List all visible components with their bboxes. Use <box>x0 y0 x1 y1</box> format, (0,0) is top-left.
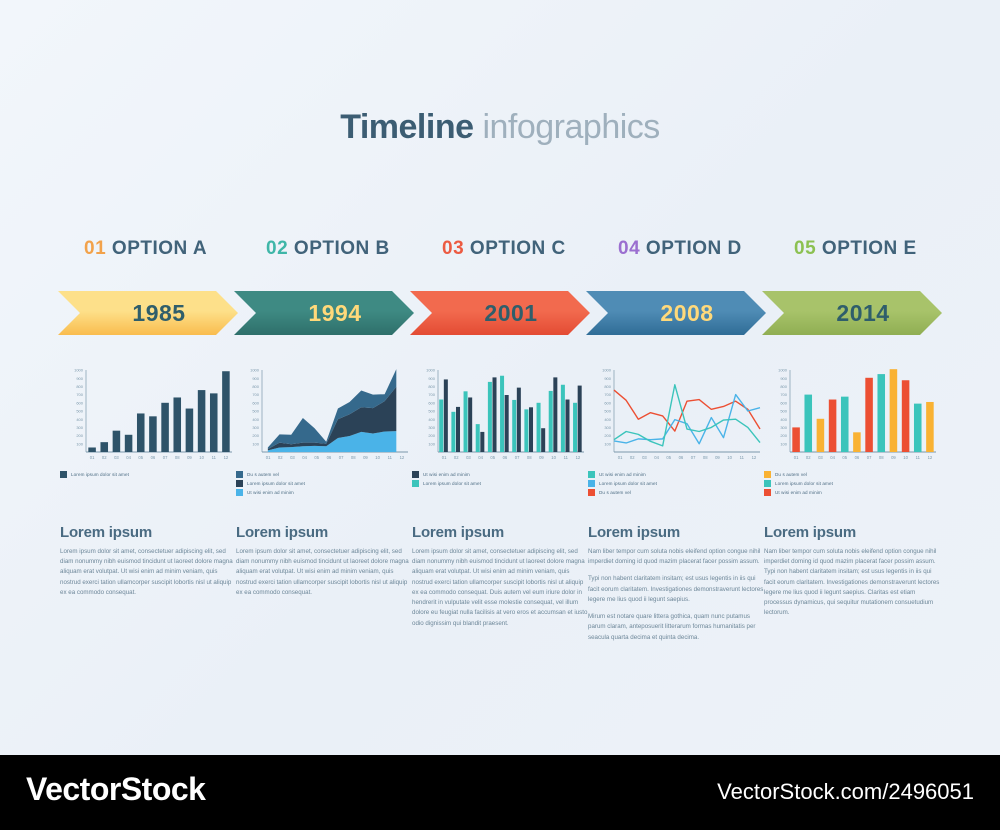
bar <box>456 407 460 452</box>
legend-item[interactable]: Lorem ipsum dolor sit amet <box>236 480 412 487</box>
x-tick-label: 08 <box>175 455 180 460</box>
title-sub: infographics <box>482 108 659 146</box>
y-tick-label: 300 <box>780 425 787 430</box>
option-number: 04 <box>618 238 640 259</box>
x-tick-label: 05 <box>666 455 671 460</box>
option-label: OPTION B <box>288 238 390 259</box>
x-tick-label: 03 <box>290 455 295 460</box>
x-tick-label: 06 <box>855 455 860 460</box>
option-number: 05 <box>794 238 816 259</box>
x-tick-label: 09 <box>187 455 192 460</box>
option-label: OPTION D <box>640 238 742 259</box>
text-column-2: Lorem ipsumLorem ipsum dolor sit amet, c… <box>236 524 412 605</box>
bar <box>792 427 800 452</box>
y-tick-label: 1000 <box>250 368 260 373</box>
bar <box>524 409 528 452</box>
legend-label: Ut wisi enim ad minim <box>423 472 470 477</box>
y-tick-label: 400 <box>780 417 787 422</box>
legend-swatch-icon <box>236 480 243 487</box>
legend-swatch-icon <box>764 489 771 496</box>
bar <box>88 447 96 452</box>
legend-swatch-icon <box>588 480 595 487</box>
option-header-option-d[interactable]: 04 OPTION D <box>618 238 742 260</box>
option-header-option-e[interactable]: 05 OPTION E <box>794 238 917 260</box>
column-heading: Lorem ipsum <box>764 524 940 541</box>
option-header-option-a[interactable]: 01 OPTION A <box>84 238 207 260</box>
legend-item[interactable]: Lorem ipsum dolor sit amet <box>588 480 764 487</box>
chart-legend: Lorem ipsum dolor sit amet <box>60 471 236 478</box>
legend-swatch-icon <box>412 471 419 478</box>
option-number: 02 <box>266 238 288 259</box>
x-tick-label: 07 <box>691 455 696 460</box>
x-tick-label: 11 <box>212 455 217 460</box>
x-tick-label: 10 <box>727 455 732 460</box>
column-heading: Lorem ipsum <box>412 524 588 541</box>
bar <box>125 435 133 452</box>
legend-item[interactable]: Ut wisi enim ad minim <box>236 489 412 496</box>
x-tick-label: 03 <box>114 455 119 460</box>
legend-item[interactable]: Lorem ipsum dolor sit amet <box>764 480 940 487</box>
brand-label: VectorStock <box>26 771 205 808</box>
legend-item[interactable]: Lorem ipsum dolor sit amet <box>60 471 236 478</box>
x-tick-label: 07 <box>515 455 520 460</box>
x-tick-label: 05 <box>490 455 495 460</box>
chart-plot: 1000900800700600500400300200100010203040… <box>764 366 940 466</box>
option-number: 03 <box>442 238 464 259</box>
x-tick-label: 05 <box>314 455 319 460</box>
x-tick-label: 12 <box>928 455 933 460</box>
bar <box>439 400 443 452</box>
y-tick-label: 700 <box>76 392 83 397</box>
bar <box>464 391 468 452</box>
chart-legend: Ut wisi enim ad minimLorem ipsum dolor s… <box>588 471 764 496</box>
chart-plot: 1000900800700600500400300200100010203040… <box>588 366 764 466</box>
x-tick-label: 11 <box>916 455 921 460</box>
bar <box>198 390 206 452</box>
y-tick-label: 1000 <box>602 368 612 373</box>
column-paragraph: Typi non habent claritatem insitam; est … <box>588 574 764 605</box>
y-tick-label: 900 <box>252 376 259 381</box>
y-tick-label: 800 <box>428 384 435 389</box>
y-tick-label: 100 <box>252 441 259 446</box>
y-tick-label: 300 <box>604 425 611 430</box>
y-tick-label: 100 <box>76 441 83 446</box>
bar <box>222 371 230 452</box>
x-tick-label: 01 <box>794 455 799 460</box>
chart-legend: Ut wisi enim ad minimLorem ipsum dolor s… <box>412 471 588 487</box>
bar <box>444 379 448 452</box>
legend-swatch-icon <box>412 480 419 487</box>
bar <box>186 409 194 452</box>
option-number: 01 <box>84 238 106 259</box>
timeline-banner-2001[interactable]: 2001 <box>410 291 590 335</box>
legend-swatch-icon <box>588 489 595 496</box>
chart-1-bar: 1000900800700600500400300200100010203040… <box>60 366 236 480</box>
option-header-option-b[interactable]: 02 OPTION B <box>266 238 390 260</box>
y-tick-label: 200 <box>780 433 787 438</box>
column-paragraph: Lorem ipsum dolor sit amet, consectetuer… <box>236 547 412 598</box>
bar <box>512 400 516 452</box>
legend-item[interactable]: Du s autem vel <box>588 489 764 496</box>
bar <box>537 403 541 452</box>
option-header-option-c[interactable]: 03 OPTION C <box>442 238 566 260</box>
option-label: OPTION C <box>464 238 566 259</box>
bar <box>451 412 455 452</box>
x-tick-label: 04 <box>654 455 659 460</box>
y-tick-label: 500 <box>604 409 611 414</box>
y-tick-label: 400 <box>604 417 611 422</box>
x-tick-label: 12 <box>752 455 757 460</box>
x-tick-label: 10 <box>199 455 204 460</box>
bar <box>480 432 484 452</box>
bar <box>853 432 861 452</box>
x-tick-label: 12 <box>576 455 581 460</box>
legend-item[interactable]: Du s autem vel <box>764 471 940 478</box>
bar <box>161 403 169 452</box>
legend-item[interactable]: Ut wisi enim ad minim <box>588 471 764 478</box>
chart-legend: Du s autem velLorem ipsum dolor sit amet… <box>764 471 940 496</box>
chart-legend: Du s autem velLorem ipsum dolor sit amet… <box>236 471 412 496</box>
title-main: Timeline <box>340 108 473 146</box>
legend-item[interactable]: Lorem ipsum dolor sit amet <box>412 480 588 487</box>
bar <box>100 442 108 452</box>
x-tick-label: 06 <box>679 455 684 460</box>
brand-url: VectorStock.com/2496051 <box>717 779 974 805</box>
y-tick-label: 400 <box>76 417 83 422</box>
y-tick-label: 100 <box>780 441 787 446</box>
chart-plot: 1000900800700600500400300200100010203040… <box>60 366 236 466</box>
y-tick-label: 200 <box>76 433 83 438</box>
legend-label: Lorem ipsum dolor sit amet <box>423 481 481 486</box>
legend-label: Du s autem vel <box>599 490 631 495</box>
y-tick-label: 300 <box>252 425 259 430</box>
x-tick-label: 03 <box>466 455 471 460</box>
x-tick-label: 11 <box>564 455 569 460</box>
x-tick-label: 06 <box>327 455 332 460</box>
legend-swatch-icon <box>236 489 243 496</box>
chart-4-line: 1000900800700600500400300200100010203040… <box>588 366 764 498</box>
x-tick-label: 04 <box>830 455 835 460</box>
x-tick-label: 02 <box>630 455 635 460</box>
bar <box>553 377 557 452</box>
bar <box>468 397 472 452</box>
timeline-banner-1985[interactable]: 1985 <box>58 291 238 335</box>
column-heading: Lorem ipsum <box>236 524 412 541</box>
bar <box>865 378 873 452</box>
x-tick-label: 09 <box>891 455 896 460</box>
legend-swatch-icon <box>764 471 771 478</box>
x-tick-label: 11 <box>740 455 745 460</box>
bar <box>890 369 898 452</box>
x-tick-label: 08 <box>351 455 356 460</box>
bar <box>149 416 157 452</box>
chart-plot: 1000900800700600500400300200100010203040… <box>236 366 412 466</box>
x-tick-label: 12 <box>224 455 229 460</box>
y-tick-label: 300 <box>428 425 435 430</box>
y-tick-label: 800 <box>780 384 787 389</box>
legend-label: Lorem ipsum dolor sit amet <box>599 481 657 486</box>
y-tick-label: 400 <box>428 417 435 422</box>
bar <box>505 395 509 452</box>
x-tick-label: 07 <box>163 455 168 460</box>
banner-year: 1985 <box>110 300 185 327</box>
legend-swatch-icon <box>588 471 595 478</box>
y-tick-label: 600 <box>604 400 611 405</box>
x-tick-label: 09 <box>539 455 544 460</box>
x-tick-label: 12 <box>400 455 405 460</box>
x-tick-label: 09 <box>363 455 368 460</box>
x-tick-label: 06 <box>151 455 156 460</box>
timeline-banner-2008[interactable]: 2008 <box>586 291 766 335</box>
banner-year: 2014 <box>814 300 889 327</box>
column-paragraph: Nam liber tempor cum soluta nobis eleife… <box>764 547 940 619</box>
y-tick-label: 300 <box>76 425 83 430</box>
x-tick-label: 05 <box>138 455 143 460</box>
option-label: OPTION A <box>106 238 207 259</box>
bar <box>914 404 922 452</box>
bar <box>541 428 545 452</box>
legend-item[interactable]: Du s autem vel <box>236 471 412 478</box>
bar <box>804 395 812 452</box>
y-tick-label: 1000 <box>778 368 788 373</box>
chart-5-bar: 1000900800700600500400300200100010203040… <box>764 366 940 498</box>
x-tick-label: 01 <box>442 455 447 460</box>
chart-2-area: 1000900800700600500400300200100010203040… <box>236 366 412 498</box>
chart-3-bar: 1000900800700600500400300200100010203040… <box>412 366 588 489</box>
y-tick-label: 500 <box>76 409 83 414</box>
y-tick-label: 500 <box>780 409 787 414</box>
y-tick-label: 900 <box>76 376 83 381</box>
bar <box>817 419 825 452</box>
bar <box>113 431 121 452</box>
x-tick-label: 02 <box>806 455 811 460</box>
y-tick-label: 100 <box>428 441 435 446</box>
bar <box>137 413 145 452</box>
y-tick-label: 900 <box>428 376 435 381</box>
x-tick-label: 01 <box>618 455 623 460</box>
legend-label: Du s autem vel <box>775 472 807 477</box>
y-tick-label: 500 <box>428 409 435 414</box>
x-tick-label: 07 <box>867 455 872 460</box>
x-tick-label: 03 <box>642 455 647 460</box>
bar <box>476 424 480 452</box>
x-tick-label: 08 <box>879 455 884 460</box>
legend-label: Lorem ipsum dolor sit amet <box>247 481 305 486</box>
x-tick-label: 02 <box>278 455 283 460</box>
y-tick-label: 900 <box>780 376 787 381</box>
x-tick-label: 08 <box>703 455 708 460</box>
page-title: Timeline infographics <box>0 108 1000 147</box>
x-tick-label: 11 <box>388 455 393 460</box>
x-tick-label: 02 <box>454 455 459 460</box>
bar <box>902 380 910 452</box>
y-tick-label: 600 <box>76 400 83 405</box>
y-tick-label: 1000 <box>426 368 436 373</box>
column-paragraph: Nam liber tempor cum soluta nobis eleife… <box>588 547 764 567</box>
y-tick-label: 900 <box>604 376 611 381</box>
bar <box>517 388 521 452</box>
bar <box>210 393 218 452</box>
x-tick-label: 07 <box>339 455 344 460</box>
bar <box>488 382 492 452</box>
bar <box>877 374 885 452</box>
text-column-4: Lorem ipsumNam liber tempor cum soluta n… <box>588 524 764 650</box>
bar <box>926 402 934 452</box>
column-heading: Lorem ipsum <box>588 524 764 541</box>
x-tick-label: 01 <box>266 455 271 460</box>
y-tick-label: 1000 <box>74 368 84 373</box>
y-tick-label: 400 <box>252 417 259 422</box>
y-tick-label: 200 <box>428 433 435 438</box>
legend-swatch-icon <box>60 471 67 478</box>
timeline-banner-2014[interactable]: 2014 <box>762 291 942 335</box>
text-column-1: Lorem ipsumLorem ipsum dolor sit amet, c… <box>60 524 236 605</box>
chart-plot: 1000900800700600500400300200100010203040… <box>412 366 588 466</box>
y-tick-label: 600 <box>780 400 787 405</box>
y-tick-label: 200 <box>252 433 259 438</box>
bar <box>529 407 533 452</box>
bar <box>841 397 849 452</box>
x-tick-label: 01 <box>90 455 95 460</box>
bar <box>500 376 504 452</box>
x-tick-label: 05 <box>842 455 847 460</box>
y-tick-label: 500 <box>252 409 259 414</box>
y-tick-label: 800 <box>76 384 83 389</box>
x-tick-label: 10 <box>551 455 556 460</box>
x-tick-label: 10 <box>375 455 380 460</box>
y-tick-label: 700 <box>604 392 611 397</box>
column-paragraph: Lorem ipsum dolor sit amet, consectetuer… <box>60 547 236 598</box>
bar <box>829 400 837 452</box>
bar <box>173 397 181 452</box>
bar <box>573 403 577 452</box>
text-column-5: Lorem ipsumNam liber tempor cum soluta n… <box>764 524 940 626</box>
bar <box>565 400 569 452</box>
banner-year: 2001 <box>462 300 537 327</box>
legend-item[interactable]: Ut wisi enim ad minim <box>412 471 588 478</box>
y-tick-label: 600 <box>428 400 435 405</box>
legend-label: Ut wisi enim ad minim <box>247 490 294 495</box>
y-tick-label: 200 <box>604 433 611 438</box>
y-tick-label: 600 <box>252 400 259 405</box>
x-tick-label: 10 <box>903 455 908 460</box>
legend-label: Lorem ipsum dolor sit amet <box>775 481 833 486</box>
bar <box>561 385 565 452</box>
text-column-3: Lorem ipsumLorem ipsum dolor sit amet, c… <box>412 524 588 636</box>
y-tick-label: 700 <box>780 392 787 397</box>
bar <box>549 391 553 452</box>
timeline-banner-1994[interactable]: 1994 <box>234 291 414 335</box>
legend-swatch-icon <box>236 471 243 478</box>
column-heading: Lorem ipsum <box>60 524 236 541</box>
y-tick-label: 800 <box>252 384 259 389</box>
x-tick-label: 03 <box>818 455 823 460</box>
legend-label: Ut wisi enim ad minim <box>599 472 646 477</box>
x-tick-label: 09 <box>715 455 720 460</box>
legend-label: Lorem ipsum dolor sit amet <box>71 472 129 477</box>
legend-item[interactable]: Ut wisi enim ad minim <box>764 489 940 496</box>
bar <box>492 377 496 452</box>
option-label: OPTION E <box>816 238 917 259</box>
column-paragraph: Lorem ipsum dolor sit amet, consectetuer… <box>412 547 588 629</box>
x-tick-label: 04 <box>478 455 483 460</box>
x-tick-label: 04 <box>302 455 307 460</box>
y-tick-label: 700 <box>428 392 435 397</box>
y-tick-label: 100 <box>604 441 611 446</box>
banner-year: 2008 <box>638 300 713 327</box>
bar <box>578 386 582 452</box>
watermark-footer: VectorStock VectorStock.com/2496051 <box>0 755 1000 830</box>
legend-swatch-icon <box>764 480 771 487</box>
y-tick-label: 700 <box>252 392 259 397</box>
x-tick-label: 06 <box>503 455 508 460</box>
x-tick-label: 08 <box>527 455 532 460</box>
legend-label: Du s autem vel <box>247 472 279 477</box>
x-tick-label: 02 <box>102 455 107 460</box>
x-tick-label: 04 <box>126 455 131 460</box>
banner-year: 1994 <box>286 300 361 327</box>
y-tick-label: 800 <box>604 384 611 389</box>
legend-label: Ut wisi enim ad minim <box>775 490 822 495</box>
column-paragraph: Mirum est notare quare littera gothica, … <box>588 612 764 643</box>
